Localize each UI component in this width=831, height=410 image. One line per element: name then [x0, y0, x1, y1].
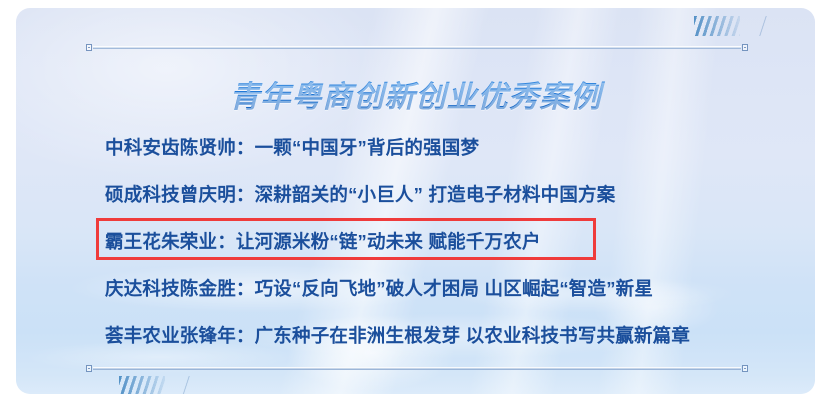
list-item[interactable]: 中科安齿陈贤帅：一颗“中国牙”背后的强国梦	[16, 123, 815, 170]
diagonal-slash-icon	[756, 16, 770, 36]
slide-screenshot: 青年粤商创新创业优秀案例 中科安齿陈贤帅：一颗“中国牙”背后的强国梦 硕成科技曾…	[0, 0, 831, 410]
bottom-rail-divider	[86, 365, 748, 372]
rail-end-cap-left-icon	[86, 44, 92, 51]
list-item-label: 硕成科技曾庆明：深耕韶关的“小巨人” 打造电子材料中国方案	[105, 181, 615, 207]
rail-end-cap-right-icon	[742, 365, 748, 372]
diagonal-slash-icon	[179, 376, 193, 394]
diagonal-stripes-icon	[119, 376, 165, 394]
list-item-label: 荟丰农业张锋年：广东种子在非洲生根发芽 以农业科技书写共赢新篇章	[105, 322, 690, 348]
top-rail-divider	[86, 44, 748, 51]
rail-end-cap-left-icon	[86, 365, 92, 372]
list-item-label: 中科安齿陈贤帅：一颗“中国牙”背后的强国梦	[105, 134, 479, 160]
list-item[interactable]: 庆达科技陈金胜：巧设“反向飞地”破人才困局 山区崛起“智造”新星	[16, 264, 815, 311]
list-item[interactable]: 硕成科技曾庆明：深耕韶关的“小巨人” 打造电子材料中国方案	[16, 170, 815, 217]
list-item-highlighted[interactable]: 霸王花朱荣业：让河源米粉“链”动未来 赋能千万农户	[16, 217, 815, 264]
list-item-label: 庆达科技陈金胜：巧设“反向飞地”破人才困局 山区崛起“智造”新星	[105, 275, 653, 301]
list-item-label: 霸王花朱荣业：让河源米粉“链”动未来 赋能千万农户	[105, 228, 541, 254]
rail-end-cap-right-icon	[742, 44, 748, 51]
diagonal-stripes-icon	[694, 16, 740, 36]
slide-card: 青年粤商创新创业优秀案例 中科安齿陈贤帅：一颗“中国牙”背后的强国梦 硕成科技曾…	[16, 8, 815, 394]
page-title: 青年粤商创新创业优秀案例	[16, 72, 815, 116]
rail-bar	[93, 367, 741, 370]
rail-bar	[93, 46, 741, 49]
case-list: 中科安齿陈贤帅：一颗“中国牙”背后的强国梦 硕成科技曾庆明：深耕韶关的“小巨人”…	[16, 123, 815, 358]
list-item[interactable]: 荟丰农业张锋年：广东种子在非洲生根发芽 以农业科技书写共赢新篇章	[16, 311, 815, 358]
